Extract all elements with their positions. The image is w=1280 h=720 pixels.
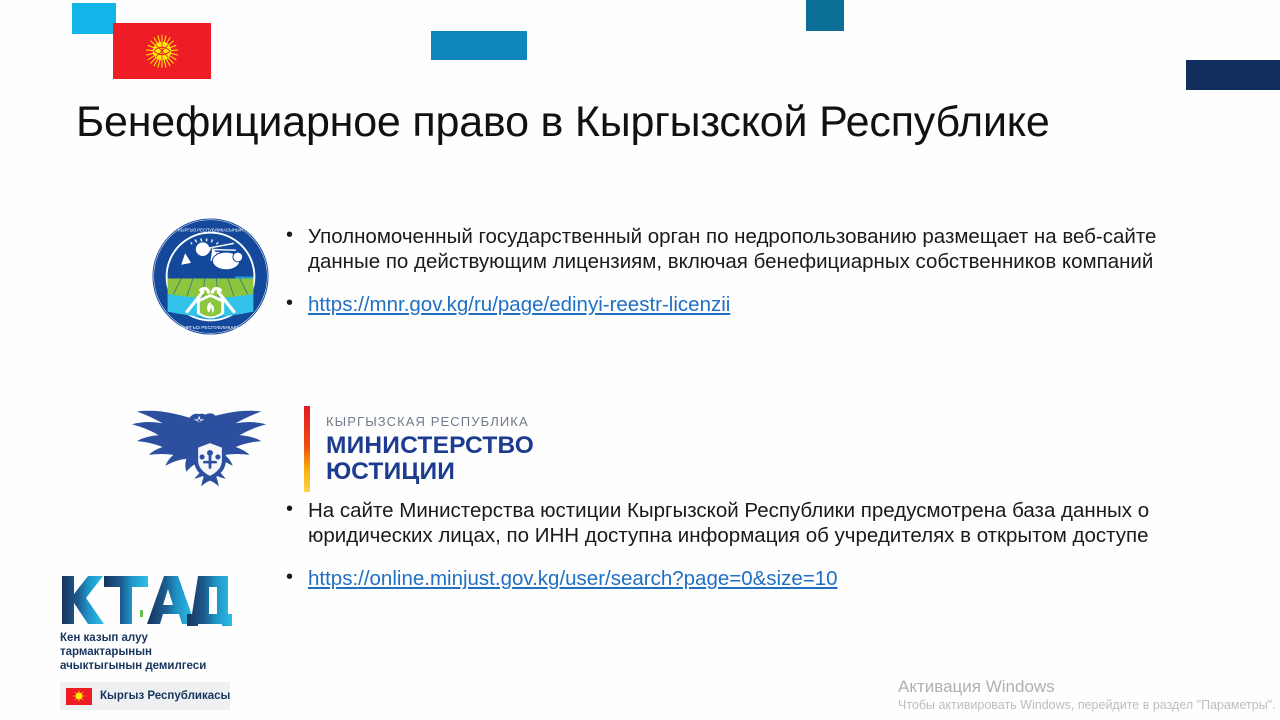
windows-activation-title: Активация Windows — [898, 676, 1280, 697]
ktad-green-tick — [140, 610, 143, 617]
ministry-of-natural-resources-emblem: КЫРГЫЗ РЕСПУБЛИКАСЫНЫН КЫРГЫЗ РЕСПУБЛИКА… — [152, 218, 269, 335]
svg-text:КЫРГЫЗ РЕСПУБЛИКАСЫНЫН: КЫРГЫЗ РЕСПУБЛИКАСЫНЫН — [178, 228, 242, 233]
ktad-wordmark-icon — [60, 570, 232, 626]
minjust-title-line2: ЮСТИЦИИ — [326, 459, 551, 485]
bullet-item-link: https://online.minjust.gov.kg/user/searc… — [282, 566, 1232, 591]
flag-sun-icon-small — [73, 690, 85, 702]
logo-gradient-divider — [304, 406, 310, 492]
windows-activation-watermark: Активация Windows Чтобы активировать Win… — [898, 676, 1280, 713]
bullet-item: На сайте Министерства юстиции Кыргызской… — [282, 498, 1232, 548]
ministry-of-justice-logo: КЫРГЫЗСКАЯ РЕСПУБЛИКА МИНИСТЕРСТВО ЮСТИЦ… — [126, 398, 551, 500]
ktad-country-badge: Кыргыз Республикасы — [60, 682, 230, 710]
svg-text:КЫРГЫЗ РЕСПУБЛИКАСЫ: КЫРГЫЗ РЕСПУБЛИКАСЫ — [180, 325, 242, 331]
ktad-eiti-logo: Кен казып алуу тармактарынын ачыктыгынын… — [60, 570, 240, 710]
presentation-slide: Бенефициарное право в Кыргызской Республ… — [0, 0, 1280, 720]
decoration-blue-bar — [431, 31, 527, 60]
kyrgyzstan-flag-icon — [113, 23, 211, 79]
bullet-item-link: https://mnr.gov.kg/ru/page/edinyi-reestr… — [282, 292, 1212, 317]
ktad-tagline: Кен казып алуу тармактарынын ачыктыгынын… — [60, 631, 232, 673]
decoration-navy-bar — [1186, 60, 1280, 90]
ktad-badge-label: Кыргыз Республикасы — [100, 690, 230, 702]
minjust-title-line1: МИНИСТЕРСТВО — [326, 433, 551, 459]
slide-title: Бенефициарное право в Кыргызской Республ… — [76, 98, 1196, 147]
windows-activation-subtitle: Чтобы активировать Windows, перейдите в … — [898, 697, 1280, 713]
minjust-text-lockup: КЫРГЫЗСКАЯ РЕСПУБЛИКА МИНИСТЕРСТВО ЮСТИЦ… — [326, 414, 551, 485]
eagle-emblem-icon — [126, 399, 294, 499]
decoration-teal-square — [806, 0, 844, 31]
decoration-cyan-square — [72, 3, 116, 34]
minjust-search-link[interactable]: https://online.minjust.gov.kg/user/searc… — [308, 567, 838, 590]
minjust-title: МИНИСТЕРСТВО ЮСТИЦИИ — [326, 433, 551, 485]
bullet-item: Уполномоченный государственный орган по … — [282, 224, 1212, 274]
kyrgyzstan-flag-icon-small — [66, 688, 92, 705]
bullet-block-mnr: Уполномоченный государственный орган по … — [282, 224, 1212, 317]
bullet-block-minjust: На сайте Министерства юстиции Кыргызской… — [282, 498, 1232, 591]
mnr-registry-link[interactable]: https://mnr.gov.kg/ru/page/edinyi-reestr… — [308, 293, 730, 316]
minjust-superline: КЫРГЫЗСКАЯ РЕСПУБЛИКА — [326, 414, 551, 429]
flag-sun-icon — [145, 34, 179, 68]
